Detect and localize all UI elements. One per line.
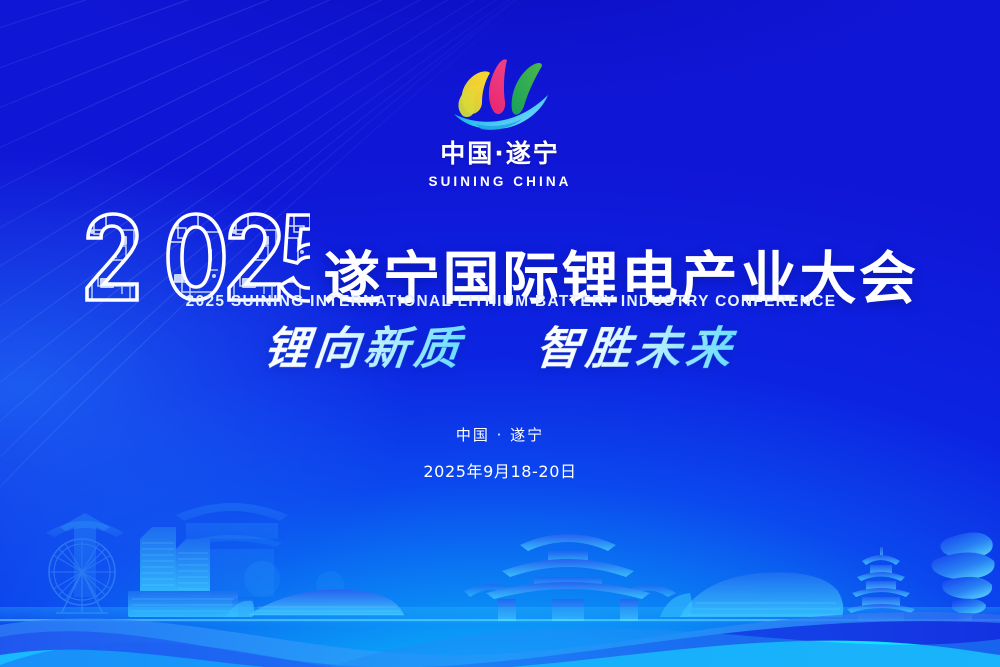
year-2025-circuit-graphic	[82, 212, 310, 304]
logo-english-text: SUINING CHINA	[428, 175, 571, 189]
logo-chinese-text: 中国·遂宁	[440, 141, 560, 166]
conference-poster: 中国·遂宁 SUINING CHINA	[0, 0, 1000, 667]
suining-lotus-logo-icon	[438, 48, 562, 134]
suining-logo-block: 中国·遂宁 SUINING CHINA	[0, 48, 1000, 189]
event-info-block: 中国 · 遂宁 2025年9月18-20日	[0, 428, 1000, 480]
slogan-part-2: 智胜未来	[533, 322, 739, 375]
slogan-part-1: 锂向新质	[261, 322, 467, 375]
event-location: 中国 · 遂宁	[0, 428, 1000, 443]
slogan-calligraphy: 锂向新质 智胜未来	[0, 322, 1000, 375]
main-title-row: 遂宁国际锂电产业大会	[0, 212, 1000, 306]
title-english-subtitle: 2025 SUINING INTERNATIONAL LITHIUM BATTE…	[0, 294, 1000, 309]
event-dates: 2025年9月18-20日	[0, 464, 1000, 480]
ferris-wheel-icon	[49, 539, 115, 613]
city-skyline-illustration	[0, 487, 1000, 667]
